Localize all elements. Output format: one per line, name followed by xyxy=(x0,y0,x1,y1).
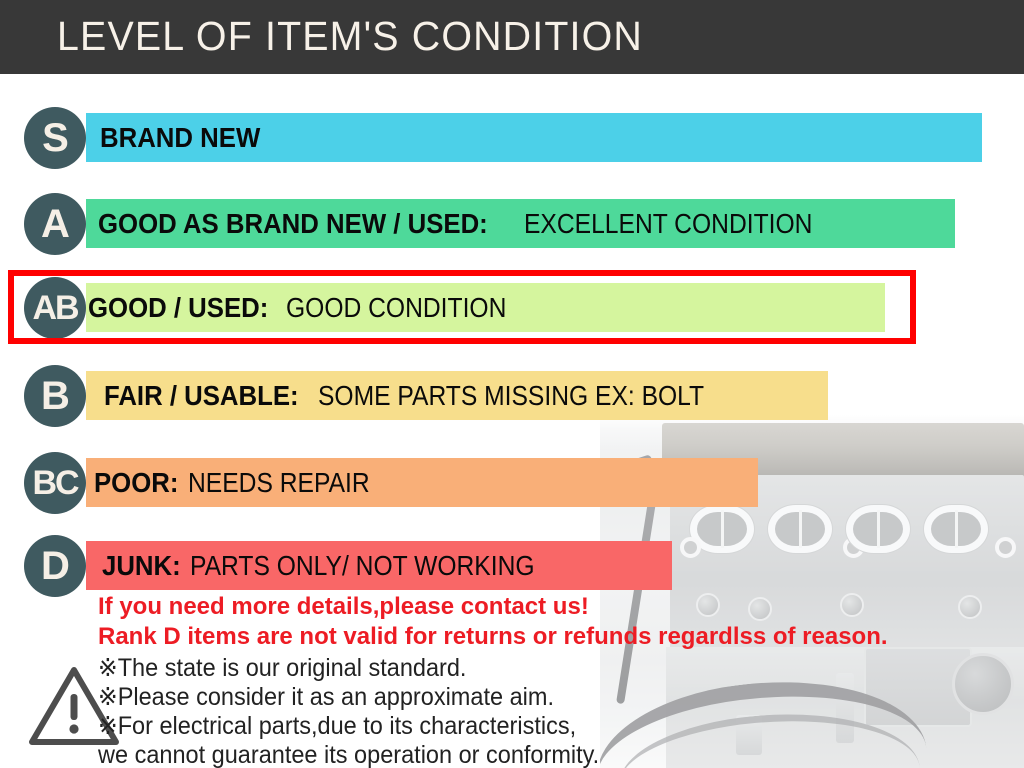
rank-badge-d: D xyxy=(24,535,86,597)
engine-port-ear xyxy=(995,537,1016,558)
rank-badge-ab: AB xyxy=(24,277,86,339)
rank-lead-a: GOOD AS BRAND NEW / USED: xyxy=(98,208,488,240)
rank-badge-s: S xyxy=(24,107,86,169)
engine-bolt xyxy=(958,595,982,619)
rank-lead-ab: GOOD / USED: xyxy=(88,292,268,324)
rank-badge-a: A xyxy=(24,193,86,255)
rank-tail-b: SOME PARTS MISSING EX: BOLT xyxy=(318,380,704,412)
footer-note-4: we cannot guarantee its operation or con… xyxy=(98,741,599,768)
rank-tail-d: PARTS ONLY/ NOT WORKING xyxy=(190,550,535,582)
rank-badge-bc: BC xyxy=(24,452,86,514)
rank-lead-b: FAIR / USABLE: xyxy=(104,380,299,412)
engine-port-ear xyxy=(680,537,701,558)
condition-level-infographic: LEVEL OF ITEM'S CONDITION S BRAND NEW A … xyxy=(0,0,1024,768)
footer-red-line-2: Rank D items are not valid for returns o… xyxy=(98,622,888,652)
rank-label-a: GOOD AS BRAND NEW / USED: EXCELLENT COND… xyxy=(98,199,851,248)
engine-intake-port xyxy=(768,505,832,553)
rank-label-bc: POOR: NEEDS REPAIR xyxy=(94,458,394,507)
footer-note-3: ※For electrical parts,due to its charact… xyxy=(98,712,599,741)
footer-warning-text: If you need more details,please contact … xyxy=(98,592,888,652)
engine-intake-port xyxy=(846,505,910,553)
footer-note-2: ※Please consider it as an approximate ai… xyxy=(98,683,599,712)
engine-intake-port xyxy=(924,505,988,553)
rank-label-ab: GOOD / USED: GOOD CONDITION xyxy=(88,283,536,332)
rank-tail-bc: NEEDS REPAIR xyxy=(188,467,370,499)
rank-lead-s: BRAND NEW xyxy=(100,122,260,154)
rank-badge-b: B xyxy=(24,365,86,427)
header-bar: LEVEL OF ITEM'S CONDITION xyxy=(0,0,1024,74)
engine-round-cap xyxy=(952,653,1014,715)
footer-note-1: ※The state is our original standard. xyxy=(98,654,599,683)
rank-tail-ab: GOOD CONDITION xyxy=(286,292,506,324)
rank-label-b: FAIR / USABLE: SOME PARTS MISSING EX: BO… xyxy=(104,371,756,420)
rank-label-d: JUNK: PARTS ONLY/ NOT WORKING xyxy=(102,541,581,590)
rank-lead-d: JUNK: xyxy=(102,550,181,582)
rank-lead-bc: POOR: xyxy=(94,467,178,499)
rank-tail-a: EXCELLENT CONDITION xyxy=(524,208,812,240)
footer-notes: ※The state is our original standard. ※Pl… xyxy=(98,654,631,768)
footer-red-line-1: If you need more details,please contact … xyxy=(98,592,888,622)
page-title: LEVEL OF ITEM'S CONDITION xyxy=(57,13,643,60)
rank-label-s: BRAND NEW xyxy=(100,113,276,162)
